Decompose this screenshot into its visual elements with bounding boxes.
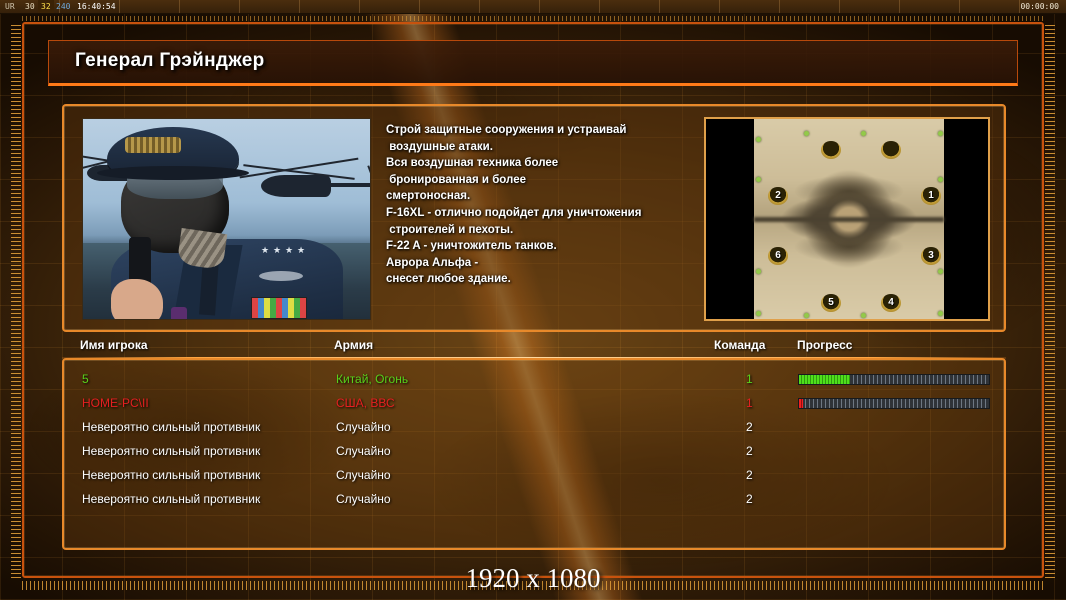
player-name: HOME-PC\II: [82, 396, 149, 410]
resolution-label: 1920 x 1080: [0, 563, 1066, 594]
status-value-1: 30: [22, 0, 38, 14]
progress-bar-fill: [799, 399, 803, 408]
player-army: Случайно: [336, 468, 391, 482]
purple-heart-medal: [171, 307, 187, 320]
title-bar: Генерал Грэйнджер: [48, 40, 1018, 86]
header-player-name: Имя игрока: [80, 338, 148, 352]
map-start-position-6[interactable]: 6: [768, 247, 788, 265]
map-start-position-2[interactable]: 2: [768, 187, 788, 205]
cap-insignia: [125, 137, 181, 153]
map-resource-dot: [861, 313, 866, 318]
player-row[interactable]: 5Китай, Огонь1: [64, 368, 1004, 392]
progress-bar-fill: [799, 375, 850, 384]
cap-brim: [97, 166, 249, 180]
status-label: UR: [2, 0, 18, 14]
frame-top-ticks: [22, 16, 1044, 21]
top-status-bar: UR 30 32 240 16:40:54 00:00:00: [0, 0, 1066, 14]
player-list-headers: Имя игрока Армия Команда Прогресс: [62, 338, 1006, 358]
map-start-position-x0[interactable]: [821, 141, 841, 159]
player-team: 1: [746, 372, 753, 386]
progress-bar: [798, 398, 990, 409]
player-name: Невероятно сильный противник: [82, 420, 260, 434]
player-army: США, ВВС: [336, 396, 395, 410]
map-start-position-1[interactable]: 1: [921, 187, 941, 205]
rank-star-icon: ★: [261, 245, 269, 256]
rank-star-icon-2: ★: [273, 245, 281, 256]
general-info-panel: ★ ★ ★ ★ Строй защитные сооружения и устр…: [62, 104, 1006, 332]
player-row[interactable]: Невероятно сильный противникСлучайно2: [64, 440, 1004, 464]
map-resource-dot: [756, 177, 761, 182]
map-start-position-3[interactable]: 3: [921, 247, 941, 265]
player-row[interactable]: HOME-PC\IIСША, ВВС1: [64, 392, 1004, 416]
player-team: 2: [746, 420, 753, 434]
map-resource-dot: [756, 137, 761, 142]
header-team: Команда: [714, 338, 765, 352]
medal-ribbons: [251, 297, 307, 319]
player-list-panel: 5Китай, Огонь1HOME-PC\IIСША, ВВС1Невероя…: [62, 358, 1006, 550]
player-army: Случайно: [336, 444, 391, 458]
map-start-position-x1[interactable]: [881, 141, 901, 159]
map-resource-dot: [938, 131, 943, 136]
player-team: 2: [746, 444, 753, 458]
map-resource-dot: [861, 131, 866, 136]
player-name: Невероятно сильный противник: [82, 444, 260, 458]
map-start-position-4[interactable]: 4: [881, 294, 901, 312]
player-progress: [798, 398, 990, 409]
general-hand: [111, 279, 163, 320]
map-resource-dot: [938, 311, 943, 316]
status-clock: 16:40:54: [74, 0, 119, 14]
general-description: Строй защитные сооружения и устраивай во…: [386, 122, 682, 288]
player-team: 1: [746, 396, 753, 410]
progress-bar: [798, 374, 990, 385]
status-bar-cells: [0, 0, 1066, 13]
map-start-position-5[interactable]: 5: [821, 294, 841, 312]
player-row[interactable]: Невероятно сильный противникСлучайно2: [64, 416, 1004, 440]
header-army: Армия: [334, 338, 373, 352]
player-team: 2: [746, 492, 753, 506]
player-progress: [798, 374, 990, 385]
player-team: 2: [746, 468, 753, 482]
map-resource-dot: [938, 269, 943, 274]
player-army: Случайно: [336, 420, 391, 434]
header-progress: Прогресс: [797, 338, 852, 352]
player-army: Китай, Огонь: [336, 372, 408, 386]
map-resource-dot: [804, 313, 809, 318]
map-river: [754, 217, 944, 222]
player-army: Случайно: [336, 492, 391, 506]
map-resource-dot: [938, 177, 943, 182]
page-title: Генерал Грэйнджер: [75, 50, 265, 72]
rank-star-icon-3: ★: [285, 245, 293, 256]
status-timer: 00:00:00: [1017, 0, 1062, 14]
status-value-2: 32: [38, 0, 54, 14]
player-name: Невероятно сильный противник: [82, 492, 260, 506]
map-resource-dot: [804, 131, 809, 136]
rank-star-icon-4: ★: [297, 245, 305, 256]
map-resource-dot: [756, 311, 761, 316]
pilot-wings-badge: [259, 271, 303, 281]
general-portrait: ★ ★ ★ ★: [82, 118, 371, 320]
status-value-3: 240: [53, 0, 73, 14]
map-preview: 216354: [704, 117, 990, 321]
player-row[interactable]: Невероятно сильный противникСлучайно2: [64, 464, 1004, 488]
player-row[interactable]: Невероятно сильный противникСлучайно2: [64, 488, 1004, 512]
player-name: Невероятно сильный противник: [82, 468, 260, 482]
map-resource-dot: [756, 269, 761, 274]
player-name: 5: [82, 372, 89, 386]
